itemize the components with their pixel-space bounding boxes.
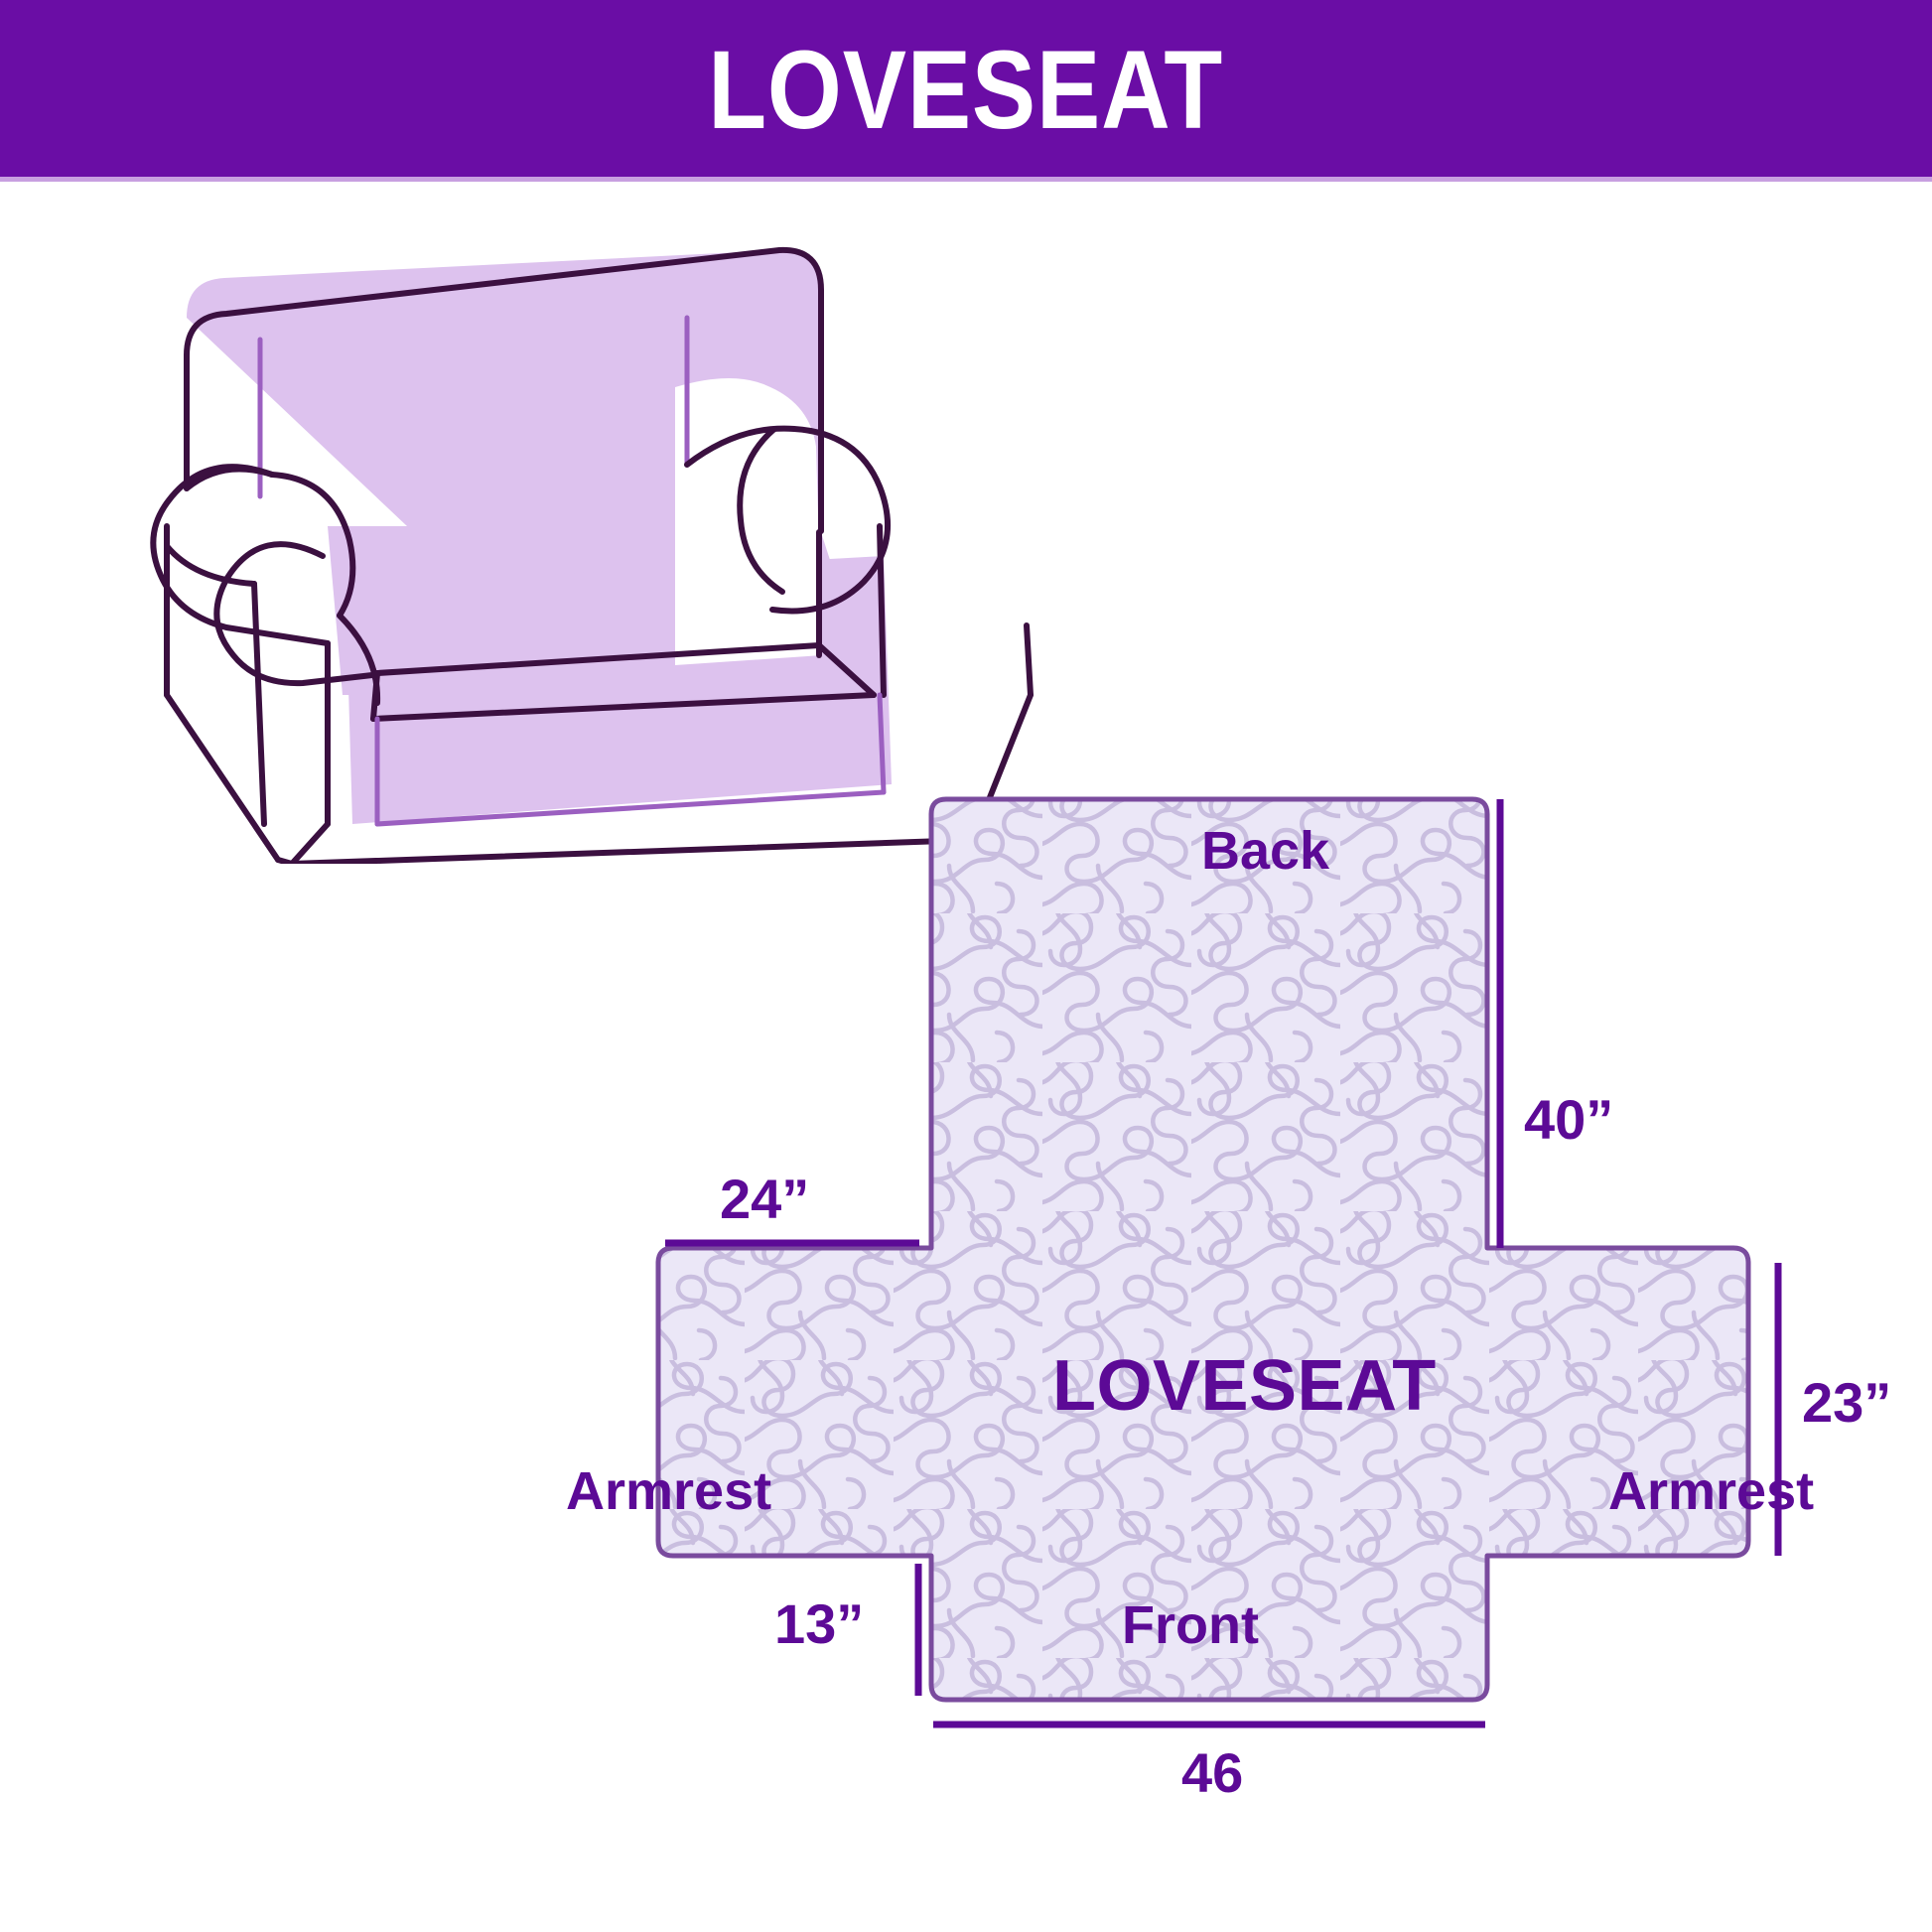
panel-label-back: Back [1201, 824, 1329, 878]
page-title: LOVESEAT [709, 35, 1224, 146]
dim-label-46: 46 [1181, 1745, 1243, 1801]
panel-label-front: Front [1122, 1598, 1259, 1652]
loveseat-size-chart: LOVESEAT .dk{fill:none;stroke:#3b1040;st… [0, 0, 1932, 1932]
dim-label-13: 13” [774, 1596, 864, 1652]
dim-label-40: 40” [1524, 1092, 1613, 1148]
panel-label-armrest-left: Armrest [566, 1464, 771, 1518]
cover-layout-diagram: .cov{fill:url(#meander);stroke:#7a4b9e;s… [596, 764, 1932, 1827]
cover-layout-svg: .cov{fill:url(#meander);stroke:#7a4b9e;s… [596, 764, 1932, 1827]
panel-label-armrest-right: Armrest [1608, 1464, 1814, 1518]
banner-bottom-edge [0, 177, 1932, 182]
header-banner: LOVESEAT [0, 0, 1932, 181]
dim-label-23: 23” [1802, 1375, 1891, 1431]
cover-center-title: LOVESEAT [1052, 1350, 1437, 1422]
dim-label-24: 24” [720, 1172, 809, 1227]
